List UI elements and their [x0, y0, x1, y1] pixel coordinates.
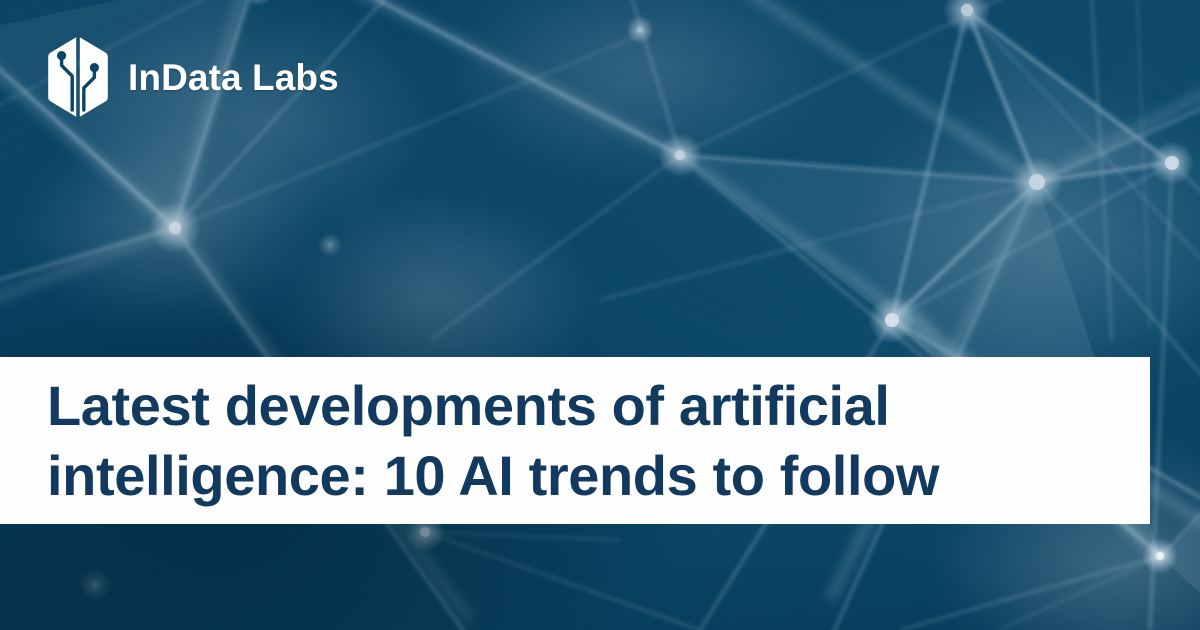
page-title: Latest developments of artificial intell… [0, 371, 1150, 511]
brand-wordmark: InData Labs [128, 59, 339, 96]
indata-labs-logo-icon [44, 36, 112, 118]
banner-canvas: InData Labs Latest developments of artif… [0, 0, 1200, 630]
brand-logo[interactable]: InData Labs [44, 36, 339, 118]
headline-band: Latest developments of artificial intell… [0, 357, 1150, 524]
